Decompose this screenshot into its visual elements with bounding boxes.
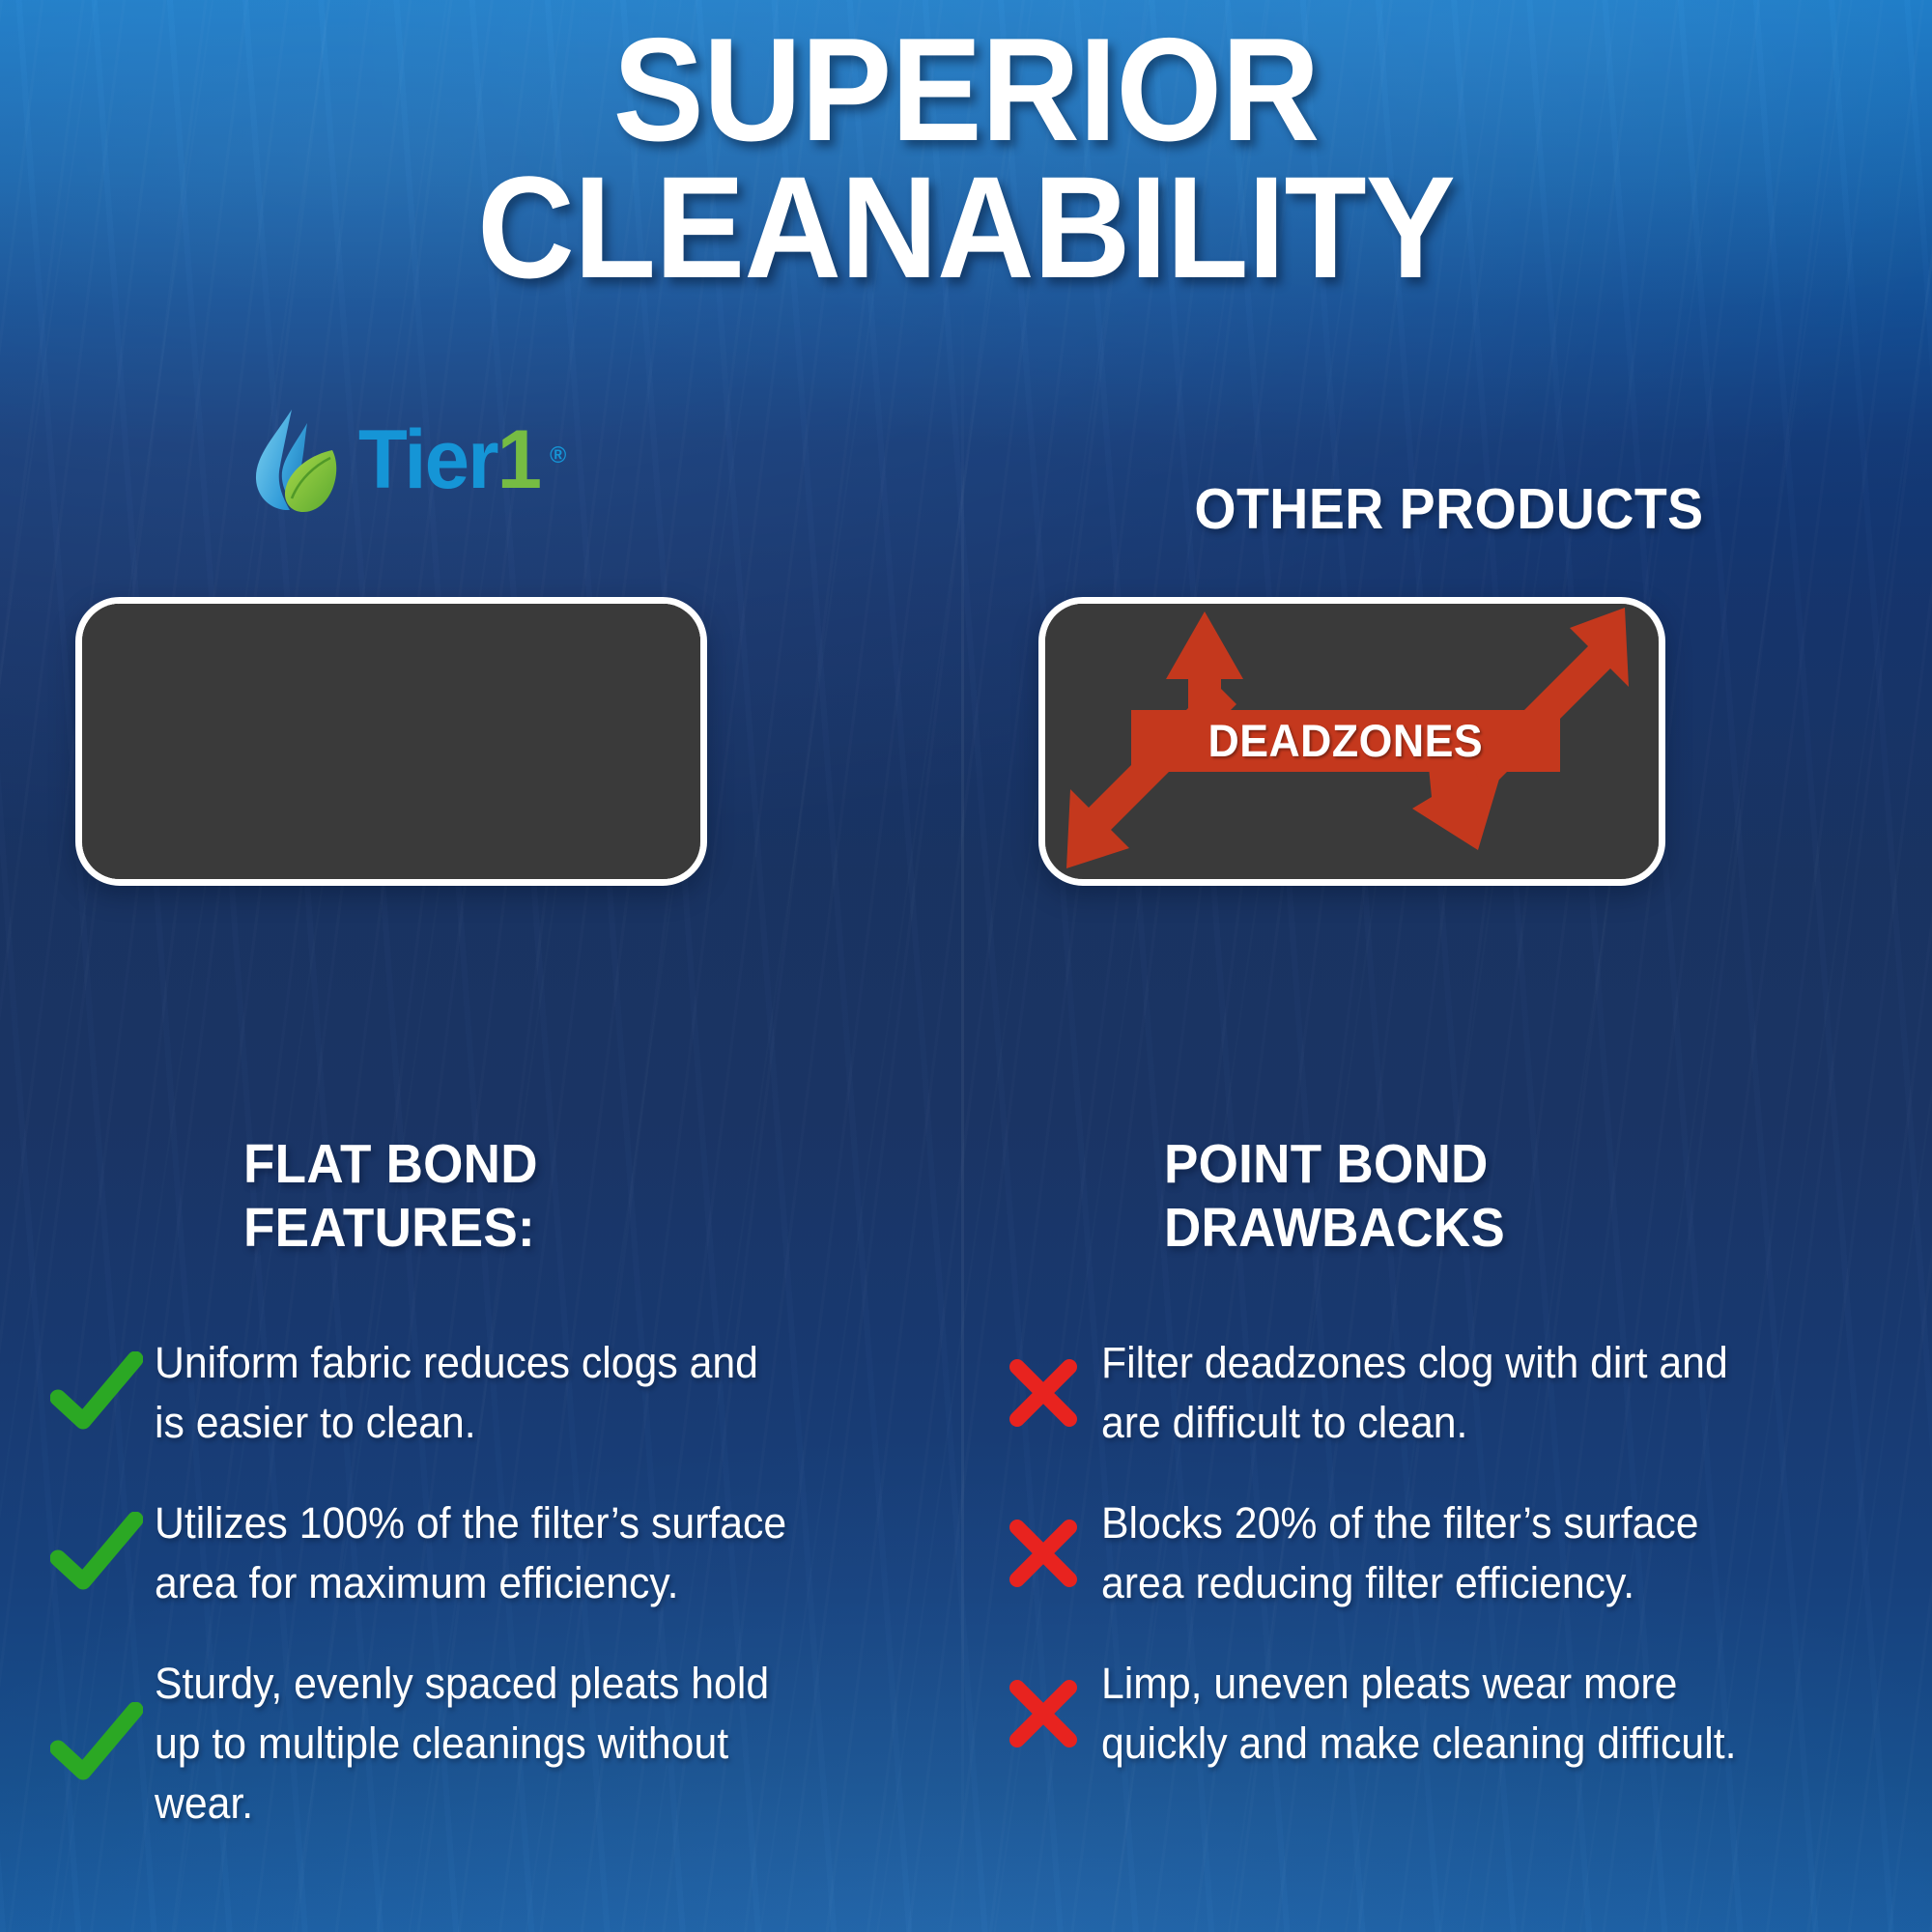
cross-icon	[985, 1355, 1101, 1431]
check-icon	[39, 1351, 155, 1435]
registered-trademark-icon: ®	[550, 414, 564, 497]
water-drop-leaf-icon	[249, 406, 342, 514]
list-item-text: Limp, uneven pleats wear more quickly an…	[1101, 1654, 1744, 1774]
cross-icon	[985, 1676, 1101, 1751]
flat-bond-heading-line2: FEATURES:	[243, 1196, 538, 1260]
list-item: Utilizes 100% of the filter’s surface ar…	[39, 1493, 908, 1613]
flat-bond-heading: FLAT BOND FEATURES:	[243, 1132, 538, 1260]
point-bond-heading-line1: POINT BOND	[1164, 1132, 1505, 1196]
list-item: Filter deadzones clog with dirt and are …	[985, 1333, 1855, 1453]
left-column: Tier1 ®	[0, 0, 966, 1932]
list-item: Uniform fabric reduces clogs and is easi…	[39, 1333, 908, 1453]
deadzones-label: DEADZONES	[1131, 710, 1561, 772]
flat-bond-micrograph-panel	[75, 597, 707, 886]
point-bond-heading: POINT BOND DRAWBACKS	[1164, 1132, 1505, 1260]
list-item-text: Utilizes 100% of the filter’s surface ar…	[155, 1493, 797, 1613]
infographic-canvas: SUPERIOR CLEANABILITY	[0, 0, 1932, 1932]
cross-icon	[985, 1516, 1101, 1591]
list-item-text: Uniform fabric reduces clogs and is easi…	[155, 1333, 797, 1453]
list-item-text: Sturdy, evenly spaced pleats hold up to …	[155, 1654, 797, 1833]
brand-name-tier: Tier	[358, 413, 497, 506]
point-bond-heading-line2: DRAWBACKS	[1164, 1196, 1505, 1260]
flat-bond-heading-line1: FLAT BOND	[243, 1132, 538, 1196]
flat-bond-fiber-image	[82, 604, 700, 879]
list-item: Limp, uneven pleats wear more quickly an…	[985, 1654, 1855, 1774]
point-bond-drawback-list: Filter deadzones clog with dirt and are …	[985, 1333, 1855, 1814]
brand-logo: Tier1 ®	[249, 406, 543, 514]
brand-wordmark: Tier1 ®	[358, 418, 540, 501]
point-bond-fiber-image: DEADZONES	[1045, 604, 1659, 879]
check-icon	[39, 1702, 155, 1785]
brand-name-one: 1	[497, 413, 540, 506]
right-column: OTHER PRODUCTS	[966, 0, 1932, 1932]
list-item-text: Blocks 20% of the filter’s surface area …	[1101, 1493, 1744, 1613]
list-item: Blocks 20% of the filter’s surface area …	[985, 1493, 1855, 1613]
point-bond-micrograph-panel: DEADZONES	[1038, 597, 1665, 886]
list-item-text: Filter deadzones clog with dirt and are …	[1101, 1333, 1744, 1453]
deadzones-label-text: DEADZONES	[1208, 714, 1484, 767]
other-products-heading: OTHER PRODUCTS	[995, 476, 1903, 542]
list-item: Sturdy, evenly spaced pleats hold up to …	[39, 1654, 908, 1833]
check-icon	[39, 1512, 155, 1595]
flat-bond-feature-list: Uniform fabric reduces clogs and is easi…	[39, 1333, 908, 1874]
